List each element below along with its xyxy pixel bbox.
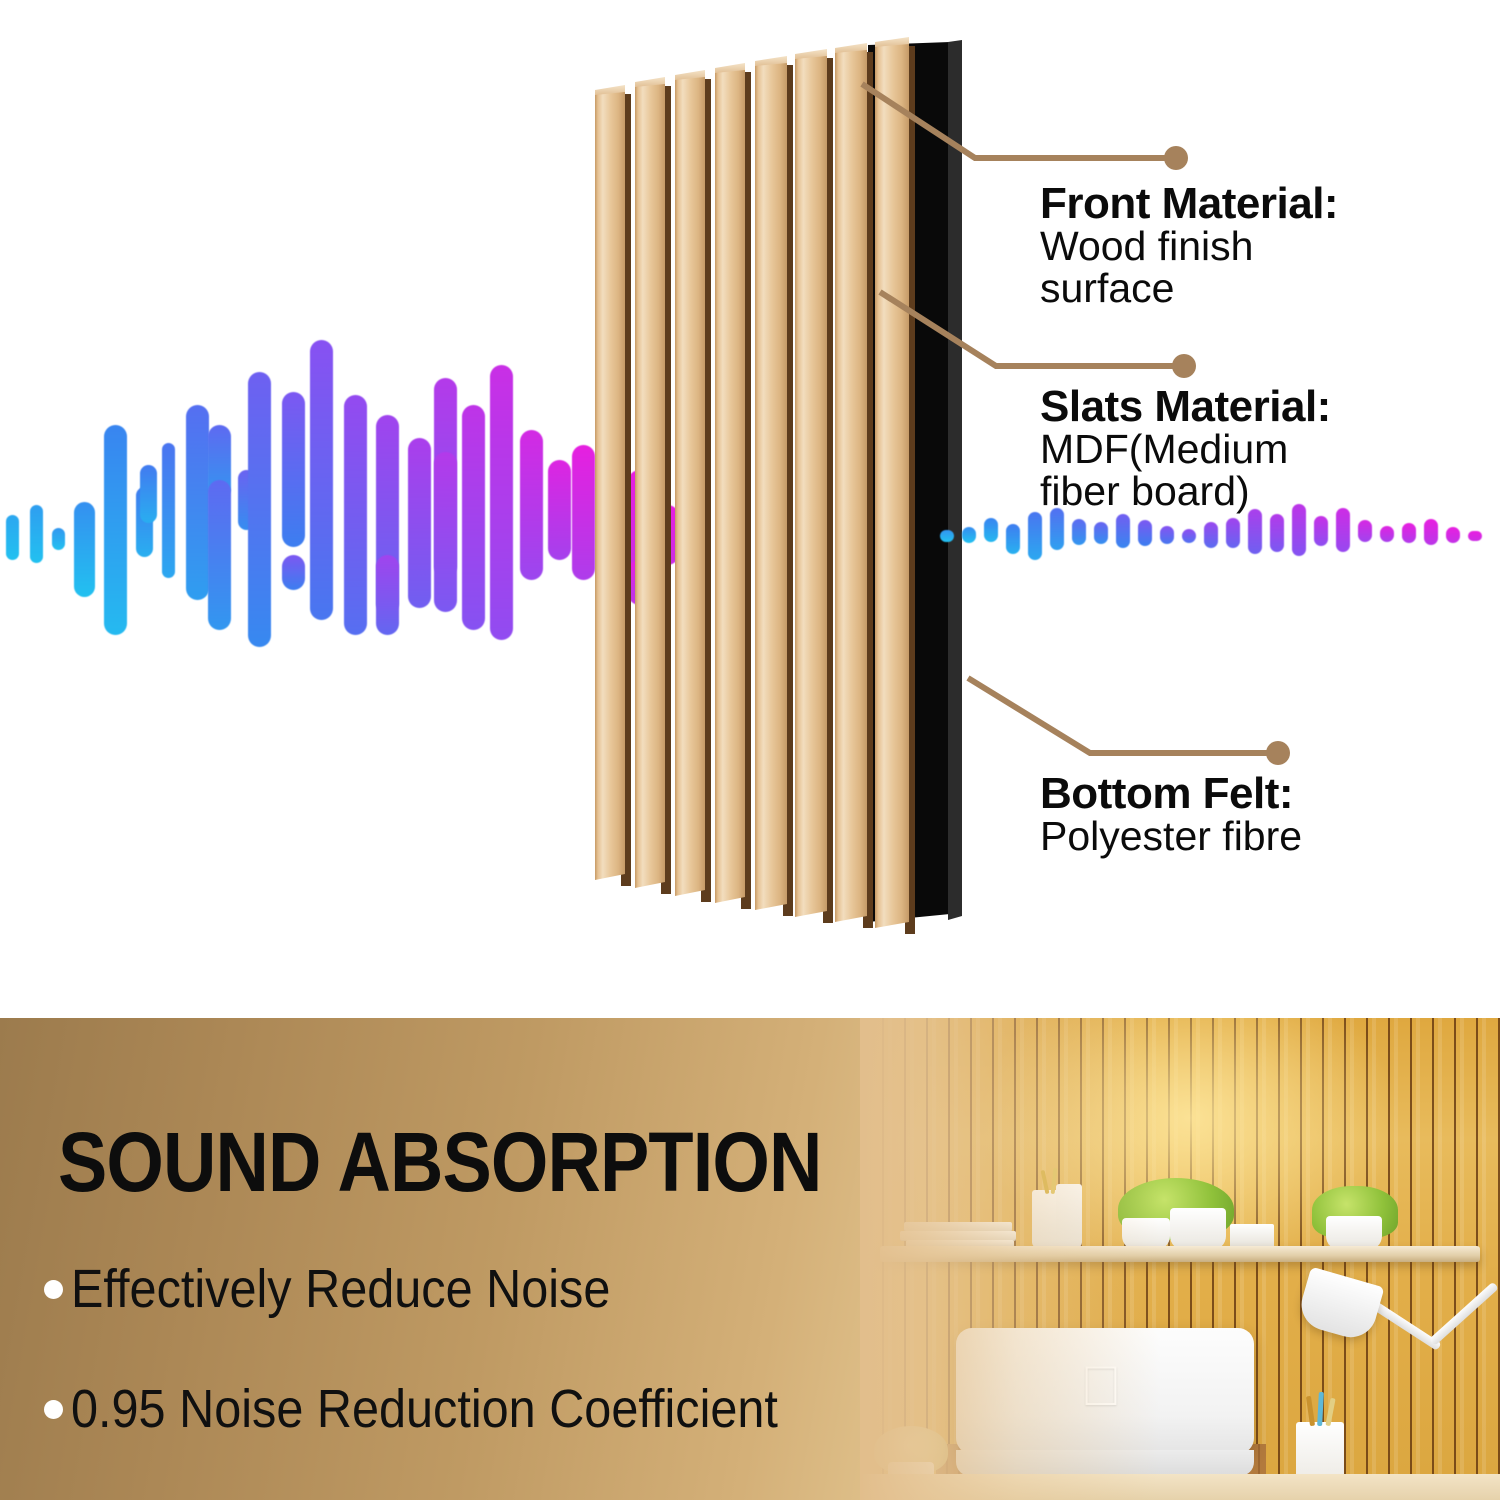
callout-front-material: Front Material: Wood finish surface xyxy=(1040,182,1338,310)
callout-front-material-title: Front Material: xyxy=(1040,182,1338,226)
callout-bottom-felt-line1: Polyester fibre xyxy=(1040,816,1302,858)
grass-pot xyxy=(1326,1216,1382,1250)
leader-dot-slats-material xyxy=(1172,354,1196,378)
callout-slats-material-line2: fiber board) xyxy=(1040,471,1331,513)
banner-bullet-item: 0.95 Noise Reduction Coefficient xyxy=(44,1378,856,1440)
callout-slats-material-title: Slats Material: xyxy=(1040,385,1331,429)
banner-heading: SOUND ABSORPTION xyxy=(58,1114,821,1211)
callout-bottom-felt: Bottom Felt: Polyester fibre xyxy=(1040,772,1302,858)
callout-slats-material: Slats Material: MDF(Medium fiber board) xyxy=(1040,385,1331,513)
banner-bullet-label: 0.95 Noise Reduction Coefficient xyxy=(71,1378,778,1440)
callout-slats-material-line1: MDF(Medium xyxy=(1040,429,1331,471)
sound-absorption-banner:  SOUND ABSORPTION Effectively Reduce No… xyxy=(0,1018,1500,1500)
leader-dot-front-material xyxy=(1164,146,1188,170)
banner-bullet-label: Effectively Reduce Noise xyxy=(71,1258,610,1320)
leader-line-front-material xyxy=(862,84,1170,158)
product-diagram-section: Front Material: Wood finish surface Slat… xyxy=(0,0,1500,1018)
banner-text-block: SOUND ABSORPTION Effectively Reduce Nois… xyxy=(0,1018,1000,1500)
banner-bullet-item: Effectively Reduce Noise xyxy=(44,1258,670,1320)
bullet-dot-icon xyxy=(44,1280,63,1299)
plant-pot xyxy=(1170,1208,1226,1250)
callout-front-material-line1: Wood finish xyxy=(1040,226,1338,268)
callout-front-material-line2: surface xyxy=(1040,268,1338,310)
shelf-box xyxy=(1230,1224,1274,1248)
bullet-dot-icon xyxy=(44,1400,63,1419)
callout-bottom-felt-title: Bottom Felt: xyxy=(1040,772,1302,816)
leader-dot-bottom-felt xyxy=(1266,741,1290,765)
leader-line-bottom-felt xyxy=(968,678,1272,753)
